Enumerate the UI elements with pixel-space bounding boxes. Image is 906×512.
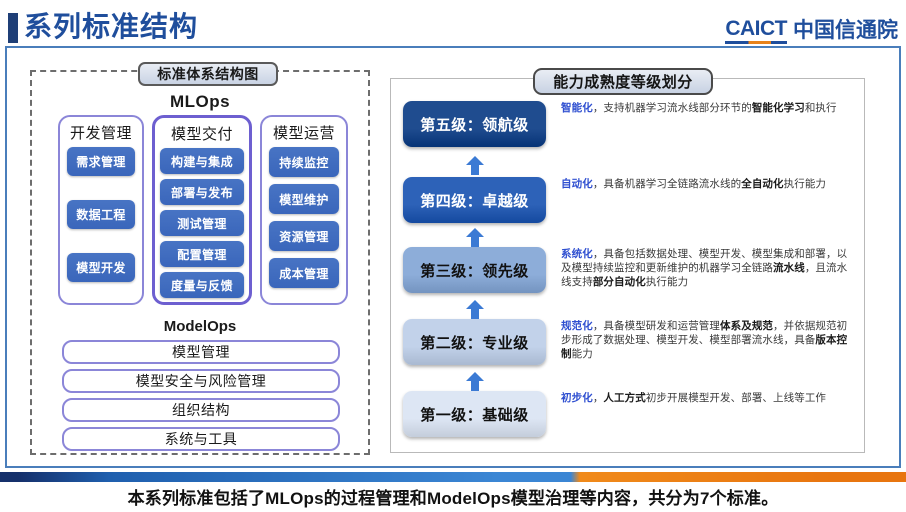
ops-column-title: 模型交付 <box>155 123 249 144</box>
ops-chip[interactable]: 测试管理 <box>160 210 244 236</box>
modelops-row[interactable]: 组织结构 <box>62 398 340 422</box>
maturity-level-badge: 能力成熟度等级划分 <box>533 68 713 95</box>
title-accent-bar <box>8 13 18 43</box>
up-arrow-icon <box>464 227 486 249</box>
ops-column-title: 模型运营 <box>262 122 346 143</box>
up-arrow-icon <box>464 371 486 393</box>
ops-chip[interactable]: 模型开发 <box>67 253 135 282</box>
maturity-level-description: 智能化，支持机器学习流水线部分环节的智能化学习和执行 <box>561 101 853 115</box>
ops-column-items: 持续监控 模型维护 资源管理 成本管理 <box>262 147 346 288</box>
ops-column-items: 构建与集成 部署与发布 测试管理 配置管理 度量与反馈 <box>155 148 249 298</box>
footer-caption: 本系列标准包括了MLOps的过程管理和ModelOps模型治理等内容，共分为7个… <box>0 484 906 509</box>
maturity-level-description: 规范化，具备模型研发和运营管理体系及规范，并依据规范初步形成了数据处理、模型开发… <box>561 319 853 361</box>
standard-architecture-badge: 标准体系结构图 <box>138 62 278 86</box>
maturity-level-description: 自动化，具备机器学习全链路流水线的全自动化执行能力 <box>561 177 853 191</box>
modelops-list: 模型管理 模型安全与风险管理 组织结构 系统与工具 <box>62 340 340 456</box>
ops-column-model-operation: 模型运营 持续监控 模型维护 资源管理 成本管理 <box>260 115 348 305</box>
modelops-row[interactable]: 系统与工具 <box>62 427 340 451</box>
modelops-label: ModelOps <box>30 318 370 335</box>
ops-column-development: 开发管理 需求管理 数据工程 模型开发 <box>58 115 144 305</box>
ops-chip[interactable]: 数据工程 <box>67 200 135 229</box>
maturity-level-box[interactable]: 第一级：基础级 <box>403 391 546 437</box>
ops-column-model-delivery: 模型交付 构建与集成 部署与发布 测试管理 配置管理 度量与反馈 <box>152 115 252 305</box>
mlops-label: MLOps <box>30 92 370 112</box>
ops-chip[interactable]: 构建与集成 <box>160 148 244 174</box>
maturity-level-description: 系统化，具备包括数据处理、模型开发、模型集成和部署，以及模型持续监控和更新维护的… <box>561 247 853 289</box>
maturity-level-description: 初步化，人工方式初步开展模型开发、部署、上线等工作 <box>561 391 853 405</box>
spacer <box>262 214 346 221</box>
page-title: 系列标准结构 <box>24 10 198 44</box>
modelops-row[interactable]: 模型安全与风险管理 <box>62 369 340 393</box>
ops-chip[interactable]: 模型维护 <box>269 184 339 214</box>
spacer <box>60 229 142 253</box>
modelops-row[interactable]: 模型管理 <box>62 340 340 364</box>
up-arrow-icon <box>464 299 486 321</box>
maturity-level-box[interactable]: 第四级：卓越级 <box>403 177 546 223</box>
spacer <box>262 177 346 184</box>
spacer <box>60 176 142 200</box>
ops-chip[interactable]: 配置管理 <box>160 241 244 267</box>
ops-chip[interactable]: 度量与反馈 <box>160 272 244 298</box>
ops-chip[interactable]: 资源管理 <box>269 221 339 251</box>
logo-chinese-name: 中国信通院 <box>793 14 898 44</box>
spacer <box>262 251 346 258</box>
maturity-level-panel: 第五级：领航级智能化，支持机器学习流水线部分环节的智能化学习和执行第四级：卓越级… <box>390 78 865 453</box>
ops-chip[interactable]: 需求管理 <box>67 147 135 176</box>
footer-gradient-bar <box>0 472 906 482</box>
caict-logo: CAICT 中国信通院 <box>725 14 898 44</box>
ops-chip[interactable]: 持续监控 <box>269 147 339 177</box>
maturity-level-box[interactable]: 第三级：领先级 <box>403 247 546 293</box>
page-header: 系列标准结构 CAICT 中国信通院 <box>0 0 906 48</box>
up-arrow-icon <box>464 155 486 177</box>
maturity-level-box[interactable]: 第二级：专业级 <box>403 319 546 365</box>
ops-chip[interactable]: 成本管理 <box>269 258 339 288</box>
maturity-level-box[interactable]: 第五级：领航级 <box>403 101 546 147</box>
ops-column-title: 开发管理 <box>60 122 142 143</box>
logo-acronym: CAICT <box>725 17 787 44</box>
ops-column-items: 需求管理 数据工程 模型开发 <box>60 147 142 282</box>
ops-chip[interactable]: 部署与发布 <box>160 179 244 205</box>
